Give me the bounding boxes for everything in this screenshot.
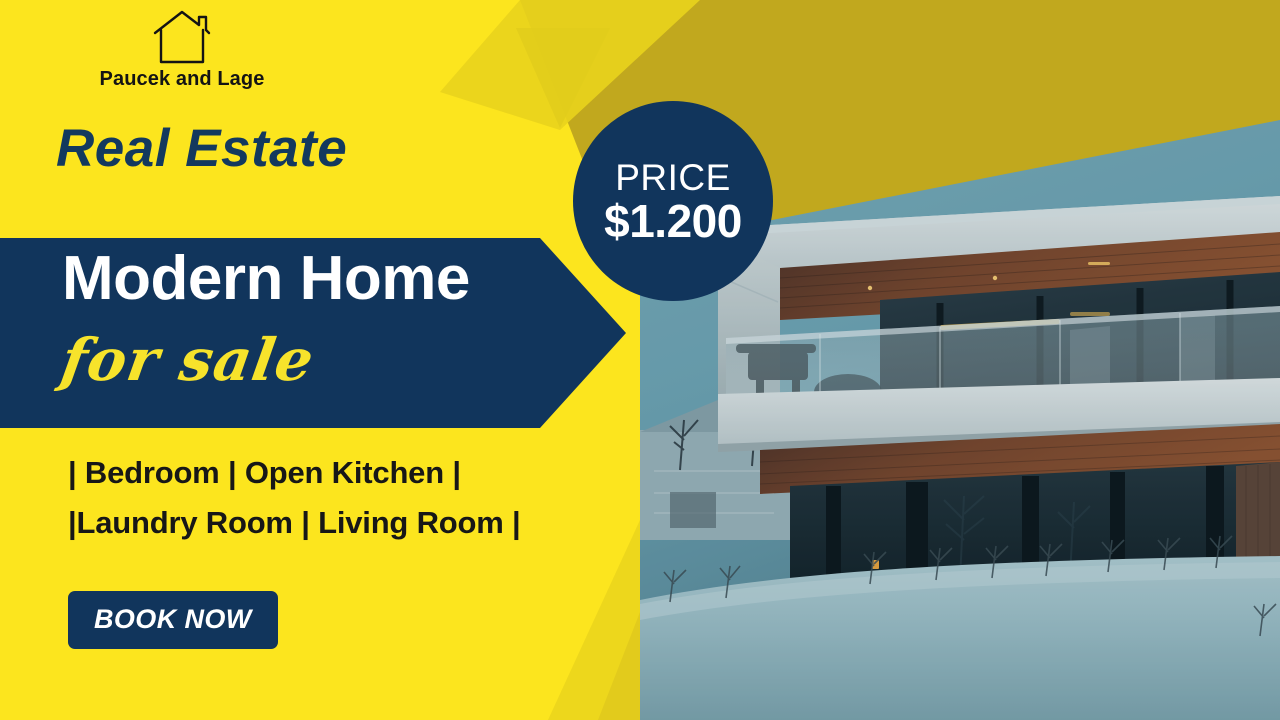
property-photo: [640, 0, 1280, 720]
real-estate-poster: Paucek and Lage Real Estate Modern Home …: [0, 0, 1280, 720]
headline-title: Modern Home: [62, 246, 470, 311]
price-value: $1.200: [604, 198, 742, 244]
features-line-2: |Laundry Room | Living Room |: [68, 498, 521, 548]
brand-logo: Paucek and Lage: [52, 8, 312, 91]
headline-banner: Modern Home for sale: [0, 238, 626, 428]
headline-script: for sale: [57, 331, 318, 389]
page-title-eyebrow: Real Estate: [56, 122, 347, 175]
book-now-button[interactable]: BOOK NOW: [68, 591, 278, 649]
features-list: | Bedroom | Open Kitchen | |Laundry Room…: [68, 448, 521, 548]
features-line-1: | Bedroom | Open Kitchen |: [68, 448, 521, 498]
brand-name: Paucek and Lage: [52, 68, 312, 91]
price-label: PRICE: [615, 159, 731, 196]
price-badge: PRICE $1.200: [573, 101, 773, 301]
house-outline-icon: [151, 8, 213, 66]
